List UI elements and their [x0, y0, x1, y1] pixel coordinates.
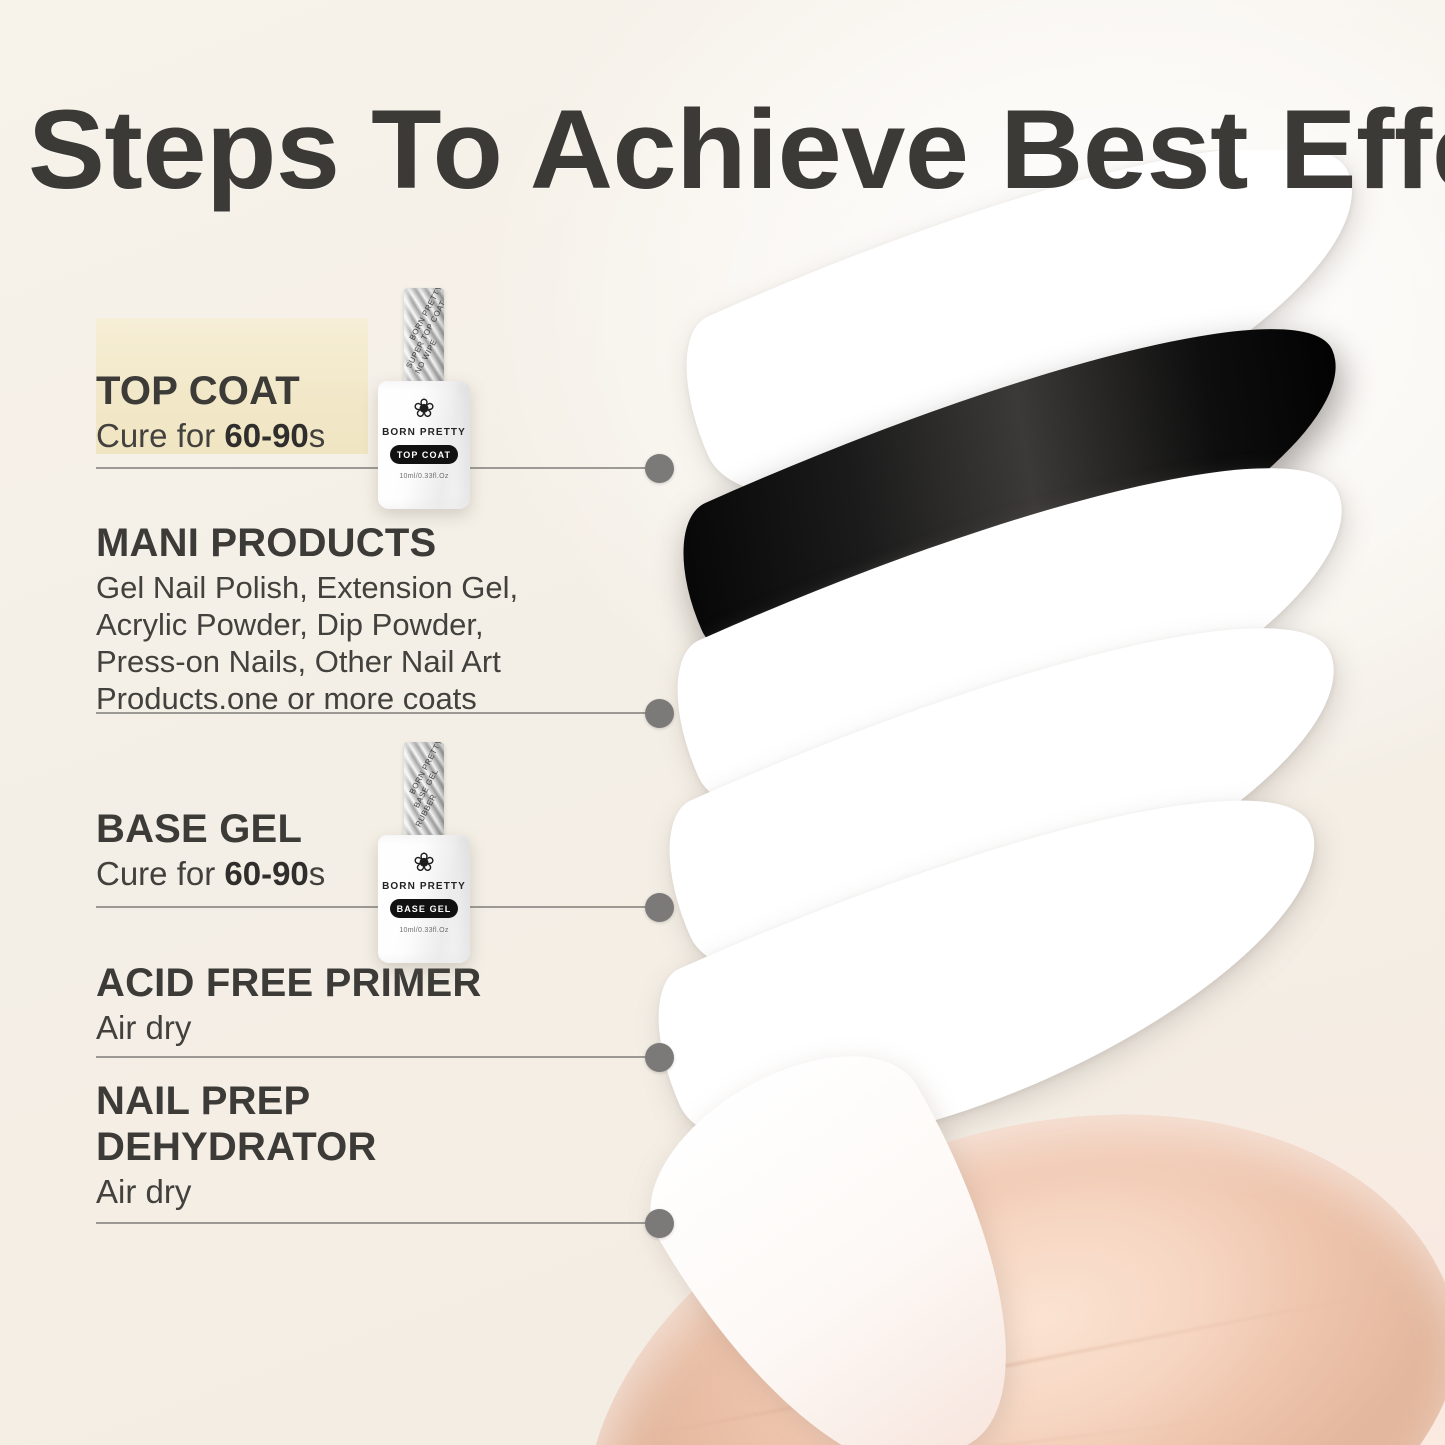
- step-product-list: Gel Nail Polish, Extension Gel, Acrylic …: [96, 569, 656, 717]
- cure-suffix: s: [309, 417, 326, 454]
- bottle-brand: BORN PRETTY: [378, 881, 470, 892]
- cure-prefix: Cure for: [96, 417, 224, 454]
- bottle-brand: BORN PRETTY: [378, 427, 470, 438]
- step-subtitle: Air dry: [96, 1172, 616, 1212]
- cure-duration: 60-90: [224, 855, 308, 892]
- step-marker-dot-4: [645, 1043, 674, 1072]
- steps-list: TOP COAT Cure for 60-90s MANI PRODUCTS G…: [0, 0, 700, 1445]
- product-line: Acrylic Powder, Dip Powder,: [96, 607, 484, 642]
- cure-prefix: Cure for: [96, 855, 224, 892]
- cure-suffix: s: [309, 855, 326, 892]
- step-heading-line1: NAIL PREP: [96, 1078, 616, 1124]
- step-subtitle: Air dry: [96, 1008, 616, 1048]
- step-marker-dot-2: [645, 699, 674, 728]
- bottle-cap: BORN PRETTY BASE GEL RUBBER: [404, 742, 444, 838]
- step-mani-products: MANI PRODUCTS Gel Nail Polish, Extension…: [96, 520, 656, 717]
- step-acid-free-primer: ACID FREE PRIMER Air dry: [96, 960, 616, 1048]
- born-pretty-logo-icon: ❀: [378, 849, 470, 875]
- top-coat-bottle: BORN PRETTY SUPER TOP COAT NO WIPE ❀ BOR…: [378, 288, 470, 509]
- product-line: Products.one or more coats: [96, 681, 477, 716]
- step-divider-3: [96, 906, 658, 908]
- step-marker-dot-1: [645, 454, 674, 483]
- step-nail-prep-dehydrator: NAIL PREP DEHYDRATOR Air dry: [96, 1078, 616, 1212]
- step-divider-5: [96, 1222, 658, 1224]
- step-heading-line2: DEHYDRATOR: [96, 1124, 616, 1170]
- base-gel-bottle: BORN PRETTY BASE GEL RUBBER ❀ BORN PRETT…: [378, 742, 470, 963]
- product-line: Gel Nail Polish, Extension Gel,: [96, 570, 518, 605]
- cure-duration: 60-90: [224, 417, 308, 454]
- bottle-label: TOP COAT: [390, 445, 458, 464]
- infographic-canvas: Steps To Achieve Best Effect TOP COAT Cu…: [0, 0, 1445, 1445]
- bottle-label: BASE GEL: [390, 899, 458, 918]
- step-divider-2: [96, 712, 658, 714]
- step-divider-4: [96, 1056, 658, 1058]
- step-marker-dot-3: [645, 893, 674, 922]
- bottle-volume: 10ml/0.33fl.Oz: [378, 927, 470, 934]
- born-pretty-logo-icon: ❀: [378, 395, 470, 421]
- step-heading: MANI PRODUCTS: [96, 520, 656, 566]
- product-line: Press-on Nails, Other Nail Art: [96, 644, 501, 679]
- bottle-body: ❀ BORN PRETTY TOP COAT 10ml/0.33fl.Oz: [378, 381, 470, 509]
- bottle-body: ❀ BORN PRETTY BASE GEL 10ml/0.33fl.Oz: [378, 835, 470, 963]
- bottle-cap: BORN PRETTY SUPER TOP COAT NO WIPE: [404, 288, 444, 384]
- step-divider-1: [96, 467, 658, 469]
- bottle-volume: 10ml/0.33fl.Oz: [378, 473, 470, 480]
- step-marker-dot-5: [645, 1209, 674, 1238]
- step-heading: ACID FREE PRIMER: [96, 960, 616, 1006]
